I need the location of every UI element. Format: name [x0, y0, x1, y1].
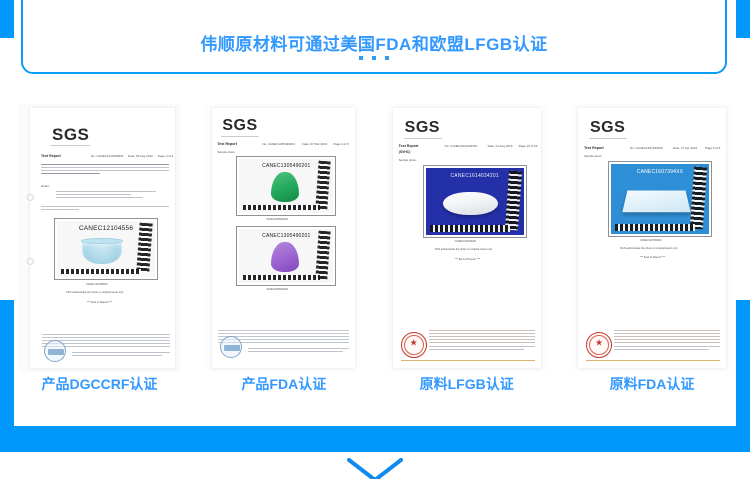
certificate-page: SGS Test Report No. CANEC1210455601 Date…	[30, 108, 175, 368]
sgs-logo-underline	[589, 138, 627, 139]
end-of-report-note: *** End of Report ***	[640, 255, 665, 259]
sample-photo-caption: CANEC1210455601	[86, 283, 108, 287]
report-number: No. CANEC1305490201	[262, 142, 295, 147]
product-image-pebble	[443, 192, 498, 215]
product-image-sheet	[622, 191, 690, 213]
ruler-vertical-icon	[137, 223, 153, 273]
ruler-horizontal-icon	[430, 225, 510, 232]
header-frame: 检测认证资质 伟顺原材料可通过美国FDA和欧盟LFGB认证	[21, 0, 727, 74]
product-image-bowl	[82, 240, 121, 264]
decor-dots	[23, 56, 725, 60]
product-image-drop-purple	[271, 242, 299, 272]
certificate-page: SGS Test Report No. CANEC1607393400 Date…	[578, 108, 726, 368]
sample-photo-label: Sample photo:	[584, 154, 602, 158]
certificate-caption-dgccrf: 产品DGCCRF认证	[18, 374, 181, 398]
certification-stamp-icon: ★	[401, 332, 427, 358]
sample-photo-caption: CANEC1305490201	[266, 218, 288, 222]
sample-photo-frame: CANEC1305490201	[236, 156, 336, 216]
sample-photo: CANEC1305490201	[239, 229, 333, 283]
report-label: Test Report	[217, 142, 237, 147]
report-page: Page 5 of 5	[705, 146, 720, 151]
footer-microtext	[614, 330, 720, 344]
notes-list	[56, 191, 160, 200]
report-label: Test Report	[41, 154, 61, 159]
report-number: No. CANEC1614034201	[445, 144, 478, 149]
certificate-gallery: SGS Test Report No. CANEC1210455601 Date…	[0, 104, 750, 372]
certificate-caption-fda-product: 产品FDA认证	[206, 374, 361, 398]
result-table	[41, 164, 169, 176]
certificate-page: SGS Test Report No. CANEC1305490201 Date…	[212, 108, 355, 368]
ruler-horizontal-icon	[243, 275, 320, 280]
ruler-horizontal-icon	[243, 205, 320, 210]
sample-photo: CANEC1607394XX	[611, 164, 709, 234]
sgs-logo-underline	[404, 138, 442, 139]
ruler-vertical-icon	[316, 231, 332, 279]
sample-photo: CANEC12104556	[57, 221, 155, 277]
footer-contact	[248, 348, 349, 354]
sample-photo-frame: CANEC1614034201	[423, 165, 527, 238]
sample-photo-code: CANEC1305490201	[262, 233, 310, 239]
sample-photo-label: Sample photo:	[399, 158, 417, 162]
sample-photo: CANEC1305490201	[239, 159, 333, 213]
report-date: Date: 07 Mar 2013	[302, 142, 327, 147]
report-page: Page 4 of 5	[333, 142, 348, 147]
report-number: No. CANEC1210455601	[91, 154, 124, 159]
decor-block-top-right	[736, 0, 750, 38]
footer-contact	[429, 346, 535, 352]
certificate-card-fda-material[interactable]: SGS Test Report No. CANEC1607393400 Date…	[572, 104, 732, 372]
report-date: Date: 03 Aug 2012	[128, 154, 153, 159]
decor-block-top-left	[0, 0, 14, 38]
certificate-card-dgccrf[interactable]: SGS Test Report No. CANEC1210455601 Date…	[18, 104, 181, 372]
sgs-logo: SGS	[590, 120, 625, 136]
certificate-caption-fda-material: 原料FDA认证	[572, 374, 732, 398]
sample-photo-code: CANEC1614034201	[451, 173, 499, 179]
end-of-report-note: *** End of Report ***	[87, 300, 112, 304]
sgs-logo-underline	[50, 145, 90, 146]
ruler-vertical-icon	[690, 166, 707, 228]
report-page: Page 16 of 16	[519, 144, 538, 149]
sgs-stamp-icon	[44, 340, 66, 362]
chevron-down-icon[interactable]	[345, 458, 405, 479]
bottom-accent-bar	[0, 426, 750, 452]
end-of-report-note: *** End of Report ***	[455, 257, 480, 261]
sample-photo-caption: CANEC1614034201	[455, 240, 477, 244]
sample-photo-frame: CANEC12104556	[54, 218, 158, 280]
certificate-card-lfgb-material[interactable]: SGS Test Report (SVHC) No. CANEC16140342…	[387, 104, 547, 372]
certification-stamp-icon: ★	[586, 332, 612, 358]
sample-photo-label: Sample photo:	[217, 150, 235, 154]
report-page: Page 4 of 4	[158, 154, 173, 159]
header-subtitle: 伟顺原材料可通过美国FDA和欧盟LFGB认证	[23, 30, 725, 55]
sgs-logo-underline	[221, 136, 259, 137]
footer-divider	[401, 360, 535, 361]
authenticity-note: SGS authenticate the photo on original r…	[435, 248, 493, 252]
decor-dot	[372, 56, 376, 60]
punch-hole	[27, 194, 34, 201]
report-label: Test Report	[584, 146, 604, 151]
punch-hole	[27, 258, 34, 265]
ruler-vertical-icon	[505, 170, 522, 230]
sample-photo-caption: CANEC1305490202	[266, 288, 288, 292]
report-number: No. CANEC1607393400	[630, 146, 663, 151]
sgs-logo: SGS	[222, 118, 257, 134]
certificate-captions: 产品DGCCRF认证 产品FDA认证 原料LFGB认证 原料FDA认证	[0, 374, 750, 398]
ruler-horizontal-icon	[61, 269, 141, 275]
sgs-logo: SGS	[405, 120, 440, 136]
sample-photo-caption: CANEC1607394001	[640, 239, 662, 243]
footer-contact	[614, 346, 720, 352]
decor-dot	[359, 56, 363, 60]
ruler-vertical-icon	[316, 161, 332, 209]
report-label-secondary: (SVHC)	[399, 150, 411, 155]
certificate-page: SGS Test Report (SVHC) No. CANEC16140342…	[393, 108, 541, 368]
sgs-stamp-icon	[220, 336, 242, 358]
report-date: Date: 27 Apr 2016	[673, 146, 697, 151]
sample-photo-frame: CANEC1607394XX	[608, 161, 712, 237]
ruler-horizontal-icon	[615, 224, 695, 231]
sgs-logo: SGS	[52, 126, 89, 143]
report-label: Test Report	[399, 144, 419, 149]
notes-label: Notes :	[41, 184, 51, 189]
report-date: Date: 01 Aug 2016	[488, 144, 513, 149]
product-image-drop-green	[271, 172, 299, 202]
authenticity-note: SGS authenticate the photo on original r…	[66, 291, 124, 295]
sample-photo-code: CANEC12104556	[79, 225, 133, 232]
footer-microtext	[429, 330, 535, 344]
remark-text	[41, 206, 169, 212]
promo-page: 检测认证资质 伟顺原材料可通过美国FDA和欧盟LFGB认证 SGS Test R…	[0, 0, 750, 479]
footer-contact	[72, 352, 170, 358]
sample-photo-code: CANEC1305490201	[262, 163, 310, 169]
certificate-card-fda-product[interactable]: SGS Test Report No. CANEC1305490201 Date…	[206, 104, 361, 372]
footer-divider	[586, 360, 720, 361]
sample-photo: CANEC1614034201	[426, 168, 524, 235]
authenticity-note: SGS authenticate the photo on original r…	[620, 247, 678, 251]
sample-photo-code: CANEC1607394XX	[637, 169, 683, 175]
sample-photo-frame: CANEC1305490201	[236, 226, 336, 286]
certificate-caption-lfgb-material: 原料LFGB认证	[387, 374, 547, 398]
decor-dot	[385, 56, 389, 60]
